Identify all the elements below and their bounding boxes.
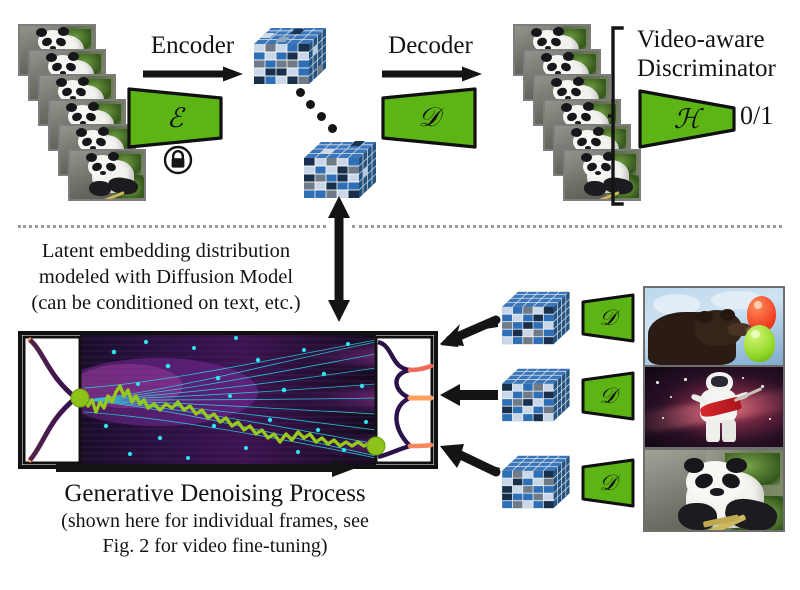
encoder-label: Encoder (140, 32, 245, 60)
sample-decoder-3: 𝒟 (580, 457, 636, 509)
encoder-arrow (143, 66, 243, 82)
discriminator-output: 0/1 (740, 101, 773, 131)
sample-image-panda-eating-bamboo (643, 448, 785, 532)
denoising-note-line2: Fig. 2 for video fine-tuning) (10, 534, 420, 559)
sample-decoder-1: 𝒟 (580, 292, 636, 344)
latent-caption-line1: Latent embedding distribution (12, 238, 320, 264)
encoder-block: ℰ (127, 85, 223, 151)
denoising-process-panel (18, 330, 438, 470)
discriminator-label-line2: Discriminator (637, 55, 776, 83)
sample-image-astronaut-playing-guitar (643, 365, 785, 449)
denoising-caption: Generative Denoising Process (shown here… (10, 478, 420, 559)
lock-icon (163, 145, 193, 175)
input-video-frames (0, 0, 140, 210)
sample-arrow-3 (438, 442, 500, 476)
sample-cube-2 (498, 365, 570, 423)
latent-caption-line2: modeled with Diffusion Model (12, 264, 320, 290)
sample-arrow-1 (438, 316, 498, 348)
sample-cube-3 (498, 452, 570, 510)
discriminator-label-line1: Video-aware (637, 26, 765, 54)
sample-image-bear-with-balloons (643, 286, 785, 370)
denoising-note-line1: (shown here for individual frames, see (10, 509, 420, 534)
discriminator-block: ℋ (637, 88, 737, 150)
section-divider-left (18, 225, 326, 228)
video-frame (68, 149, 146, 201)
latent-cube-sampled (300, 138, 376, 200)
bidirectional-arrow (325, 196, 353, 322)
latent-cube-encoded (250, 24, 326, 86)
decoder-label: Decoder (378, 32, 483, 60)
denoising-title: Generative Denoising Process (10, 478, 420, 509)
latent-caption-line3: (can be conditioned on text, etc.) (12, 290, 320, 316)
decoder-block: 𝒟 (381, 85, 477, 151)
sample-arrow-2 (438, 383, 498, 407)
sample-cube-1 (498, 288, 570, 346)
sample-decoder-2: 𝒟 (580, 370, 636, 422)
ellipsis-dots (296, 88, 346, 136)
denoising-time-arrow (56, 459, 356, 477)
section-divider-right (352, 225, 782, 228)
latent-caption: Latent embedding distribution modeled wi… (12, 238, 320, 316)
frames-bracket (608, 26, 626, 206)
decoder-arrow (382, 66, 482, 82)
video-frame (563, 149, 641, 201)
